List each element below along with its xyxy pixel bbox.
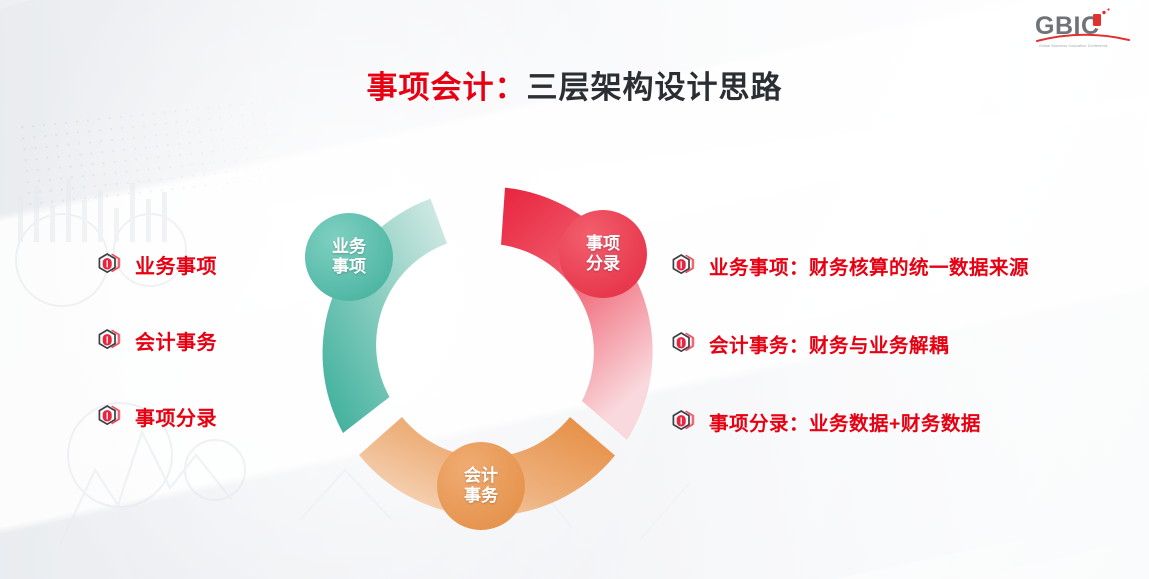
gbic-logo: GBIC Global Business Innovation Conferen… — [1031, 6, 1135, 48]
bubble-accounting-line2: 事务 — [464, 486, 498, 506]
left-bullet-list: 业务事项 会计事务 — [98, 226, 328, 454]
gbic-logo-mark: GBIC Global Business Innovation Conferen… — [1031, 6, 1135, 48]
gbic-dot-large — [1102, 11, 1105, 14]
gbic-tagline-en: Global Business Innovation Conference — [1039, 44, 1108, 48]
bubble-business-line2: 事项 — [332, 257, 366, 277]
page-title-highlight: 事项会计： — [367, 70, 527, 105]
page-title-rest: 三层架构设计思路 — [527, 70, 783, 105]
bubble-business-line1: 业务 — [332, 237, 366, 257]
hexagon-cube-icon — [98, 403, 124, 429]
hexagon-cube-icon — [98, 251, 124, 277]
bubble-accounting-line1: 会计 — [464, 466, 498, 486]
bubble-entry-line2: 分录 — [586, 254, 620, 274]
right-bullet-label-1: 会计事务：财务与业务解耦 — [709, 329, 949, 358]
hexagon-cube-icon — [98, 327, 124, 353]
left-bullet-label-2: 事项分录 — [135, 402, 217, 431]
left-bullet-item-0[interactable]: 业务事项 — [98, 226, 328, 302]
left-bullet-label-1: 会计事务 — [135, 326, 217, 355]
left-bullet-item-1[interactable]: 会计事务 — [98, 302, 328, 378]
right-bullet-list: 业务事项：财务核算的统一数据来源 会计事务：财务与业务解耦 — [672, 226, 1122, 460]
right-bullet-item-1[interactable]: 会计事务：财务与业务解耦 — [672, 304, 1122, 382]
hexagon-cube-icon — [672, 408, 698, 434]
bubble-accounting[interactable]: 会计 事务 — [437, 442, 525, 530]
gbic-dot-small — [1107, 8, 1109, 10]
hexagon-cube-icon — [672, 252, 698, 278]
right-bullet-item-2[interactable]: 事项分录：业务数据+财务数据 — [672, 382, 1122, 460]
left-bullet-item-2[interactable]: 事项分录 — [98, 378, 328, 454]
left-bullet-label-0: 业务事项 — [135, 250, 217, 279]
slide-canvas: GBIC Global Business Innovation Conferen… — [0, 0, 1149, 579]
right-bullet-item-0[interactable]: 业务事项：财务核算的统一数据来源 — [672, 226, 1122, 304]
page-title: 事项会计：三层架构设计思路 — [0, 62, 1149, 107]
right-bullet-label-2: 事项分录：业务数据+财务数据 — [709, 407, 981, 436]
bubble-entry-line1: 事项 — [586, 234, 620, 254]
right-bullet-label-0: 业务事项：财务核算的统一数据来源 — [709, 251, 1029, 280]
hexagon-cube-icon — [672, 330, 698, 356]
bubble-entry[interactable]: 事项 分录 — [559, 210, 647, 298]
gbic-red-block — [1093, 14, 1101, 26]
